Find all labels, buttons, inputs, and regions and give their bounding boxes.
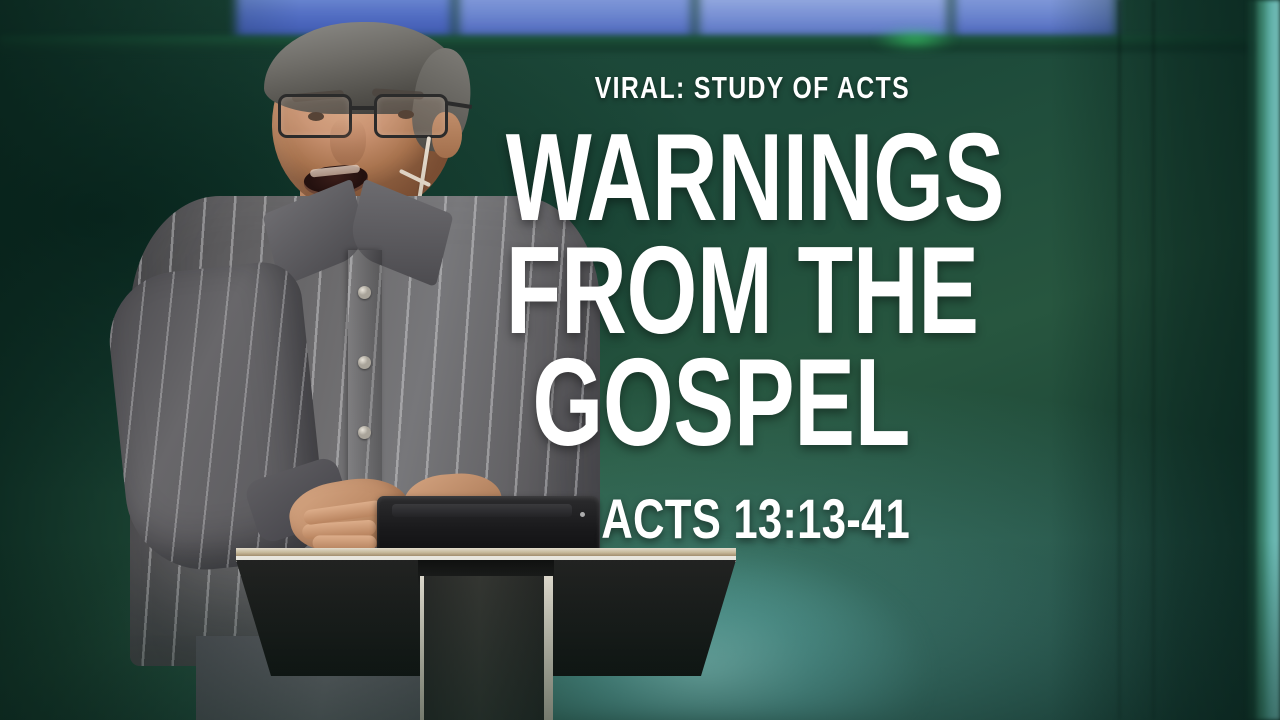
bottom-vignette bbox=[0, 540, 1280, 720]
sermon-title-line-2: FROM THE bbox=[506, 238, 910, 345]
series-label: VIRAL: STUDY OF ACTS bbox=[470, 72, 910, 103]
stage-green-light bbox=[855, 26, 975, 52]
sermon-title-line-1: WARNINGS bbox=[506, 125, 910, 232]
scripture-reference: ACTS 13:13-41 bbox=[481, 491, 910, 547]
title-text-block: VIRAL: STUDY OF ACTS WARNINGS FROM THE G… bbox=[360, 72, 1280, 547]
sermon-title-slide: VIRAL: STUDY OF ACTS WARNINGS FROM THE G… bbox=[0, 0, 1280, 720]
sermon-title-line-3: GOSPEL bbox=[506, 350, 910, 457]
